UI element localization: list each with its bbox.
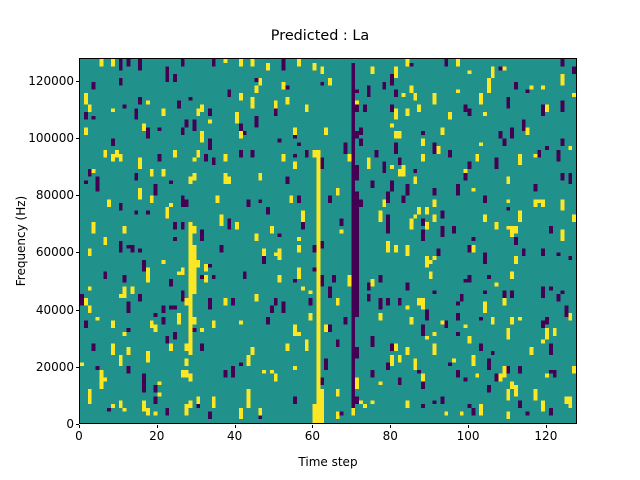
x-tick-mark [390,425,391,429]
x-tick-label: 120 [506,430,586,442]
y-tick-label: 60000 [0,246,74,258]
y-tick-label: 0 [0,418,74,430]
x-tick-label: 60 [272,430,352,442]
x-tick-label: 0 [39,430,119,442]
y-tick-label: 80000 [0,189,74,201]
x-tick-mark [235,425,236,429]
y-tick-label: 20000 [0,361,74,373]
heatmap-image[interactable] [80,59,576,423]
page-title: Predicted : La [0,28,640,44]
x-tick-mark [79,425,80,429]
x-axis-label: Time step [79,455,577,469]
y-tick-mark [76,367,80,368]
y-tick-mark [76,81,80,82]
x-tick-label: 20 [117,430,197,442]
y-tick-mark [76,138,80,139]
x-tick-mark [468,425,469,429]
x-tick-label: 100 [428,430,508,442]
x-tick-mark [157,425,158,429]
y-tick-label: 120000 [0,75,74,87]
x-tick-mark [546,425,547,429]
y-tick-mark [76,252,80,253]
x-tick-label: 80 [350,430,430,442]
y-tick-mark [76,310,80,311]
y-tick-label: 100000 [0,132,74,144]
heatmap-axes[interactable] [79,58,577,424]
y-tick-label: 40000 [0,304,74,316]
x-tick-mark [312,425,313,429]
y-axis-label: Frequency (Hz) [14,58,28,424]
x-tick-label: 40 [195,430,275,442]
matplotlib-figure: Predicted : La 0200004000060000800001000… [0,0,640,480]
y-tick-mark [76,195,80,196]
